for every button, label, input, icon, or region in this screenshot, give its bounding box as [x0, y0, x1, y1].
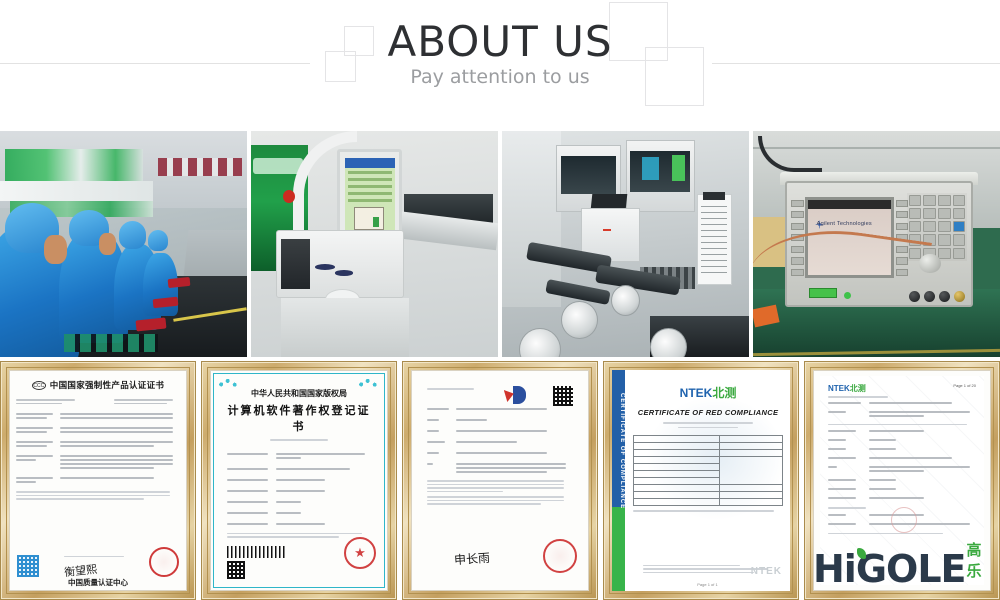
- higole-wordmark: HiGOLE: [813, 554, 966, 585]
- ntek-logo: NTEK北测: [828, 383, 888, 394]
- red-compliance-title: CERTIFICATE OF RED COMPLIANCE: [633, 408, 783, 417]
- qr-code-icon: [17, 555, 39, 577]
- certificate-frame-red-compliance[interactable]: CERTIFICATE OF COMPLIANCE NTEK北测 CERTIFI…: [603, 361, 799, 600]
- photo-aoi-inspection-machine: [251, 131, 498, 357]
- about-us-page: ABOUT US Pay attention to us: [0, 0, 1000, 600]
- factory-photo-strip: Agilent Technologies: [0, 131, 1000, 357]
- patent-certificate-title: 外观设计专利证书: [418, 401, 589, 417]
- certificate-frame-ccc[interactable]: CCC 中国国家强制性产品认证证书: [0, 361, 196, 600]
- ntek-watermark: NTEK: [751, 566, 782, 577]
- copyright-issuer-title: 中华人民共和国国家版权局: [227, 388, 371, 399]
- qr-code-icon: [227, 561, 245, 579]
- certificate-gallery: CCC 中国国家强制性产品认证证书: [0, 361, 1000, 600]
- certificate-frame-software-copyright[interactable]: 中华人民共和国国家版权局 计算机软件著作权登记证书: [201, 361, 397, 600]
- barcode-icon: [227, 546, 285, 558]
- compliance-side-text: CERTIFICATE OF COMPLIANCE: [612, 376, 625, 526]
- test-report-title: TEST REPORT: [820, 400, 991, 416]
- ccc-mark-icon: CCC: [32, 381, 46, 390]
- page-subtitle: Pay attention to us: [0, 66, 1000, 88]
- ccc-certificate-title: 中国国家强制性产品认证证书: [50, 379, 164, 391]
- certificate-frame-design-patent[interactable]: 外观设计专利证书 申长雨: [402, 361, 598, 600]
- report-page-label: Page 1 of 20: [953, 383, 976, 388]
- photo-factory-assembly-line: [0, 131, 247, 357]
- compliance-page-label: Page 1 of 1: [625, 582, 790, 587]
- ntek-brand-en: NTEK: [828, 384, 850, 393]
- patent-signature: 申长雨: [453, 549, 490, 568]
- page-title: ABOUT US: [0, 17, 1000, 66]
- certificate-frame-test-report[interactable]: NTEK北测 Page 1 of 20 TEST REPORT: [804, 361, 1000, 600]
- photo-agilent-test-equipment: Agilent Technologies: [753, 131, 1000, 357]
- copyright-certificate-title: 计算机软件著作权登记证书: [227, 402, 371, 434]
- ntek-logo: NTEK北测: [633, 384, 783, 401]
- higole-watermark-logo: HiGOLE 高乐: [813, 539, 991, 585]
- page-header: ABOUT US Pay attention to us: [0, 0, 1000, 128]
- higole-chinese-name: 高乐: [967, 539, 992, 581]
- compliance-standards-table: [633, 435, 783, 506]
- copyright-red-seal: ★: [344, 537, 376, 569]
- ntek-brand-en: NTEK: [680, 386, 713, 400]
- ccc-issuer: 中国质量认证中心: [9, 577, 187, 588]
- photo-smt-pick-and-place: [502, 131, 749, 357]
- ntek-brand-cn: 北测: [712, 386, 736, 400]
- ccc-red-seal: [149, 547, 179, 577]
- patent-red-seal: [543, 539, 577, 573]
- ntek-brand-cn: 北测: [850, 384, 866, 393]
- agilent-brand-text: Agilent Technologies: [817, 221, 884, 227]
